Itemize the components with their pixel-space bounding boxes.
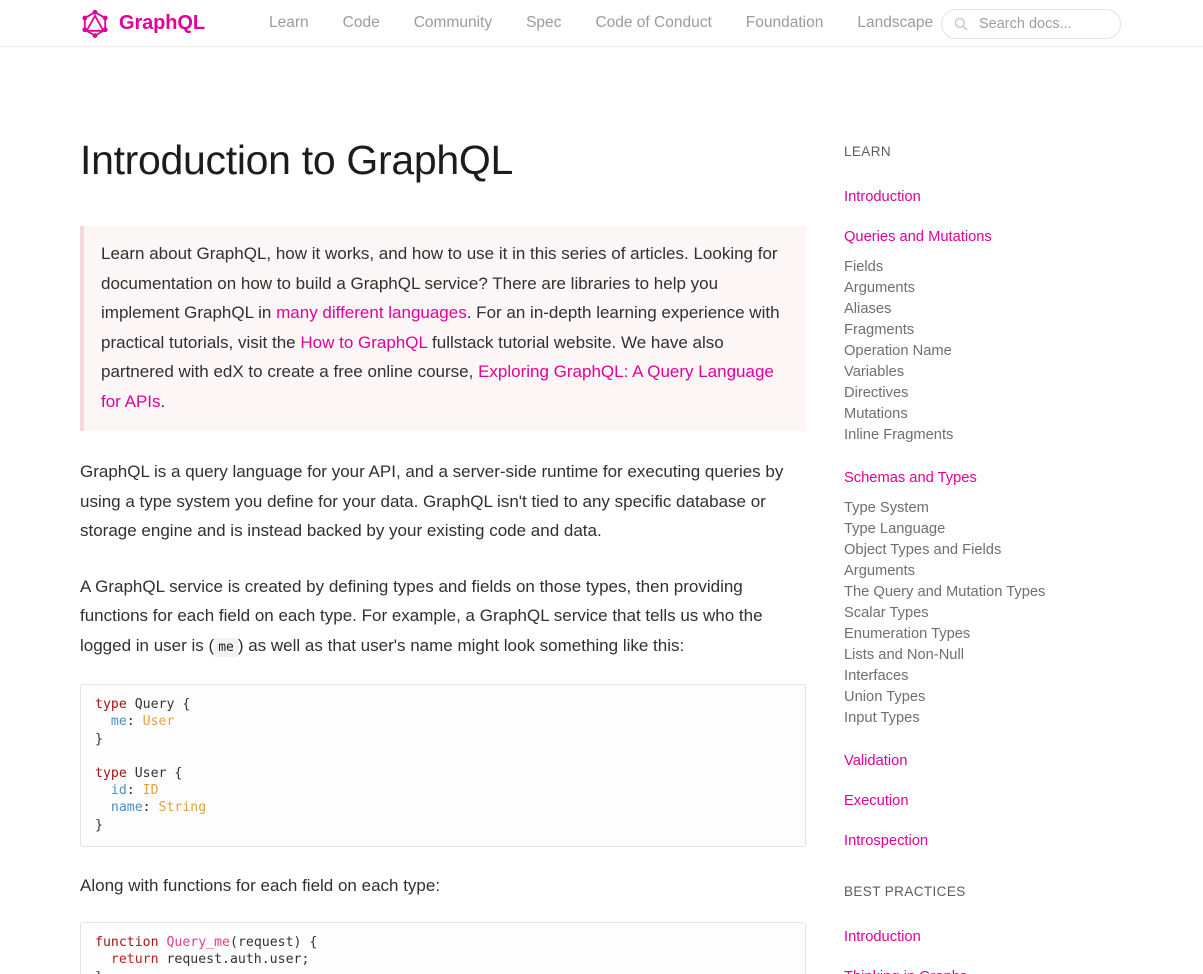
code-block-resolvers-content: function Query_me(request) { return requ…: [95, 934, 791, 974]
sidebar-group: Thinking in Graphs: [844, 969, 1074, 974]
sidebar-subitem-type-language[interactable]: Type Language: [844, 519, 1074, 540]
nav-item-landscape[interactable]: Landscape: [840, 14, 950, 32]
sidebar-subitem-aliases[interactable]: Aliases: [844, 299, 1074, 320]
sidebar-subitem-directives[interactable]: Directives: [844, 383, 1074, 404]
nav-item-foundation[interactable]: Foundation: [729, 14, 841, 32]
sidebar-group: Introspection: [844, 833, 1074, 849]
code-token: return: [95, 952, 159, 967]
sidebar-group: Introduction: [844, 189, 1074, 205]
sidebar-subitem-fragments[interactable]: Fragments: [844, 320, 1074, 341]
code-token: Query {: [127, 697, 191, 712]
sidebar-item-execution[interactable]: Execution: [844, 793, 1074, 809]
sidebar-subitem-fields[interactable]: Fields: [844, 257, 1074, 278]
sidebar-group: Validation: [844, 753, 1074, 769]
sidebar-item-queries-and-mutations[interactable]: Queries and Mutations: [844, 229, 1074, 245]
code-token: (request) {: [230, 935, 317, 950]
code-token: }: [95, 732, 103, 747]
code-block-schema: type Query { me: User } type User { id: …: [80, 684, 806, 847]
main-content: Introduction to GraphQL Learn about Grap…: [80, 47, 806, 974]
code-token: Query_me: [166, 935, 230, 950]
code-token: :: [127, 783, 143, 798]
code-token: String: [159, 800, 207, 815]
code-token: request.auth.user;: [159, 952, 310, 967]
code-token: function: [95, 935, 159, 950]
sidebar-subitem-object-types-and-fields[interactable]: Object Types and Fields: [844, 540, 1074, 561]
code-token: :: [143, 800, 159, 815]
code-block-schema-content: type Query { me: User } type User { id: …: [95, 696, 791, 834]
sidebar-item-introduction[interactable]: Introduction: [844, 189, 1074, 205]
nav-item-learn[interactable]: Learn: [252, 14, 326, 32]
sidebar-group: Schemas and TypesType SystemType Languag…: [844, 470, 1074, 729]
code-token: id: [95, 783, 127, 798]
sidebar-subitem-interfaces[interactable]: Interfaces: [844, 666, 1074, 687]
nav-item-code-of-conduct[interactable]: Code of Conduct: [578, 14, 728, 32]
sidebar-subitem-inline-fragments[interactable]: Inline Fragments: [844, 425, 1074, 446]
callout-link-how-to-graphql[interactable]: How to GraphQL: [300, 333, 427, 352]
nav-item-community[interactable]: Community: [397, 14, 509, 32]
code-token: type: [95, 697, 127, 712]
sidebar-subitem-input-types[interactable]: Input Types: [844, 708, 1074, 729]
search-box[interactable]: [941, 9, 1121, 39]
sidebar-subitem-arguments[interactable]: Arguments: [844, 278, 1074, 299]
paragraph-what-is-graphql: GraphQL is a query language for your API…: [80, 457, 806, 546]
brand-home-link[interactable]: GraphQL: [80, 8, 205, 38]
code-token: }: [95, 818, 103, 833]
sidebar-group: Queries and MutationsFieldsArgumentsAlia…: [844, 229, 1074, 446]
nav-item-spec[interactable]: Spec: [509, 14, 578, 32]
sidebar-subitem-arguments[interactable]: Arguments: [844, 561, 1074, 582]
sidebar-item-thinking-in-graphs[interactable]: Thinking in Graphs: [844, 969, 1074, 974]
callout-text-4: .: [161, 392, 166, 411]
intro-callout: Learn about GraphQL, how it works, and h…: [80, 226, 806, 431]
sidebar-subitem-operation-name[interactable]: Operation Name: [844, 341, 1074, 362]
code-token: name: [95, 800, 143, 815]
paragraph-along-with-functions: Along with functions for each field on e…: [80, 871, 806, 901]
code-token: }: [95, 970, 103, 974]
code-token: ID: [143, 783, 159, 798]
sidebar-subitem-union-types[interactable]: Union Types: [844, 687, 1074, 708]
sidebar-item-introspection[interactable]: Introspection: [844, 833, 1074, 849]
code-token: User {: [127, 766, 183, 781]
sidebar-subitem-enumeration-types[interactable]: Enumeration Types: [844, 624, 1074, 645]
graphql-logo-icon: [80, 8, 110, 38]
code-token: me: [95, 714, 127, 729]
code-block-resolvers: function Query_me(request) { return requ…: [80, 922, 806, 974]
sidebar-heading-best-practices: BEST PRACTICES: [844, 884, 1074, 899]
page-title: Introduction to GraphQL: [80, 137, 806, 184]
primary-nav: Learn Code Community Spec Code of Conduc…: [252, 14, 950, 32]
docs-sidebar: LEARNIntroductionQueries and MutationsFi…: [844, 47, 1074, 974]
site-header: GraphQL Learn Code Community Spec Code o…: [0, 0, 1203, 47]
sidebar-item-introduction[interactable]: Introduction: [844, 929, 1074, 945]
sidebar-item-schemas-and-types[interactable]: Schemas and Types: [844, 470, 1074, 486]
sidebar-subitem-variables[interactable]: Variables: [844, 362, 1074, 383]
brand-name: GraphQL: [119, 12, 205, 35]
sidebar-subitem-the-query-and-mutation-types[interactable]: The Query and Mutation Types: [844, 582, 1074, 603]
search-icon: [954, 17, 968, 31]
code-token: User: [143, 714, 175, 729]
page-body: Introduction to GraphQL Learn about Grap…: [0, 47, 1203, 974]
sidebar-subitem-type-system[interactable]: Type System: [844, 498, 1074, 519]
sidebar-subitem-mutations[interactable]: Mutations: [844, 404, 1074, 425]
sidebar-group: Execution: [844, 793, 1074, 809]
paragraph-service-text-b: ) as well as that user's name might look…: [238, 636, 684, 655]
sidebar-sections: LEARNIntroductionQueries and MutationsFi…: [844, 144, 1074, 974]
nav-item-code[interactable]: Code: [326, 14, 397, 32]
search-input[interactable]: [977, 15, 1107, 33]
sidebar-subitem-scalar-types[interactable]: Scalar Types: [844, 603, 1074, 624]
sidebar-item-validation[interactable]: Validation: [844, 753, 1074, 769]
paragraph-service-definition: A GraphQL service is created by defining…: [80, 572, 806, 663]
callout-link-many-languages[interactable]: many different languages: [276, 303, 467, 322]
sidebar-subitem-lists-and-non-null[interactable]: Lists and Non-Null: [844, 645, 1074, 666]
code-token: type: [95, 766, 127, 781]
sidebar-group: Introduction: [844, 929, 1074, 945]
inline-code-me: me: [214, 638, 238, 657]
code-token: :: [127, 714, 143, 729]
sidebar-heading-learn: LEARN: [844, 144, 1074, 159]
